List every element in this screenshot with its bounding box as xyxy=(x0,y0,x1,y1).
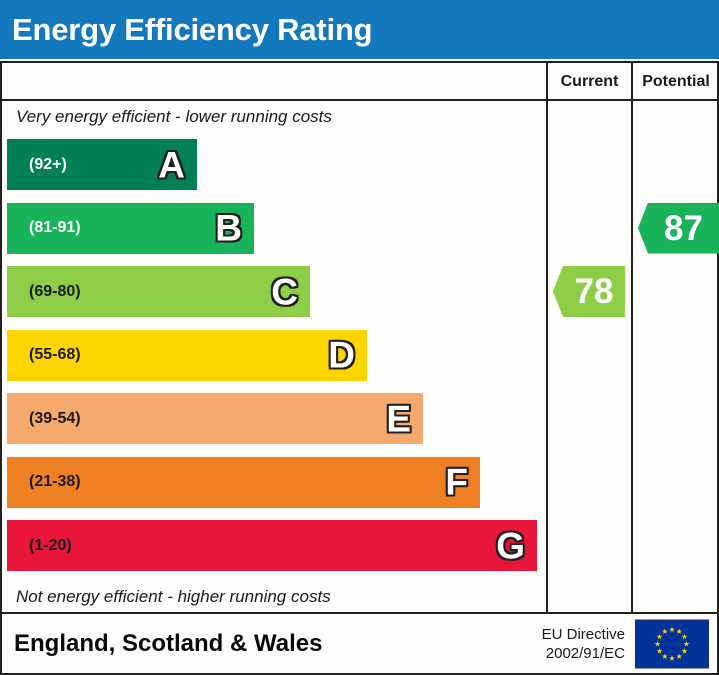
rating-value-current: 78 xyxy=(565,274,614,309)
column-header-current: Current xyxy=(548,63,631,101)
rating-marker-current: 78 xyxy=(553,266,625,317)
column-header-potential: Potential xyxy=(633,63,719,101)
caption-inefficient: Not energy efficient - higher running co… xyxy=(16,587,331,607)
directive-line-2: 2002/91/EC xyxy=(546,645,625,662)
band-letter-d: D xyxy=(328,337,355,374)
band-list: (92+)A(81-91)B(69-80)C(55-68)D(39-54)E(2… xyxy=(2,139,546,583)
column-divider-current xyxy=(546,63,548,612)
eu-flag-icon xyxy=(635,619,709,668)
band-range-g: (1-20) xyxy=(29,537,72,555)
band-letter-b: B xyxy=(215,210,242,247)
band-letter-c: C xyxy=(271,273,298,310)
footer-directive-label: EU Directive 2002/91/EC xyxy=(542,624,625,662)
band-range-b: (81-91) xyxy=(29,219,81,237)
band-a: (92+)A xyxy=(7,139,197,190)
rating-marker-potential: 87 xyxy=(638,203,719,254)
directive-line-1: EU Directive xyxy=(542,625,625,642)
energy-efficiency-rating-chart: Energy Efficiency Rating Current Potenti… xyxy=(0,0,719,675)
band-b: (81-91)B xyxy=(7,203,254,254)
band-range-d: (55-68) xyxy=(29,346,81,364)
page-title: Energy Efficiency Rating xyxy=(12,12,372,48)
footer-region-label: England, Scotland & Wales xyxy=(14,630,322,658)
title-bar: Energy Efficiency Rating xyxy=(0,0,719,59)
eu-flag-stars-icon xyxy=(636,620,708,667)
band-letter-e: E xyxy=(386,400,411,437)
band-letter-g: G xyxy=(496,527,525,564)
rating-value-potential: 87 xyxy=(654,211,703,246)
table-header-row: Current Potential xyxy=(2,63,717,101)
band-range-c: (69-80) xyxy=(29,283,81,301)
band-letter-f: F xyxy=(445,464,468,501)
band-f: (21-38)F xyxy=(7,457,480,508)
band-letter-a: A xyxy=(158,146,185,183)
band-range-f: (21-38) xyxy=(29,473,81,491)
band-d: (55-68)D xyxy=(7,330,367,381)
column-divider-potential xyxy=(631,63,633,612)
band-range-a: (92+) xyxy=(29,156,67,174)
band-g: (1-20)G xyxy=(7,520,537,571)
footer: England, Scotland & Wales EU Directive 2… xyxy=(0,614,719,675)
rating-table: Current Potential Very energy efficient … xyxy=(0,61,719,614)
caption-efficient: Very energy efficient - lower running co… xyxy=(16,107,332,127)
band-c: (69-80)C xyxy=(7,266,310,317)
band-range-e: (39-54) xyxy=(29,410,81,428)
band-e: (39-54)E xyxy=(7,393,423,444)
